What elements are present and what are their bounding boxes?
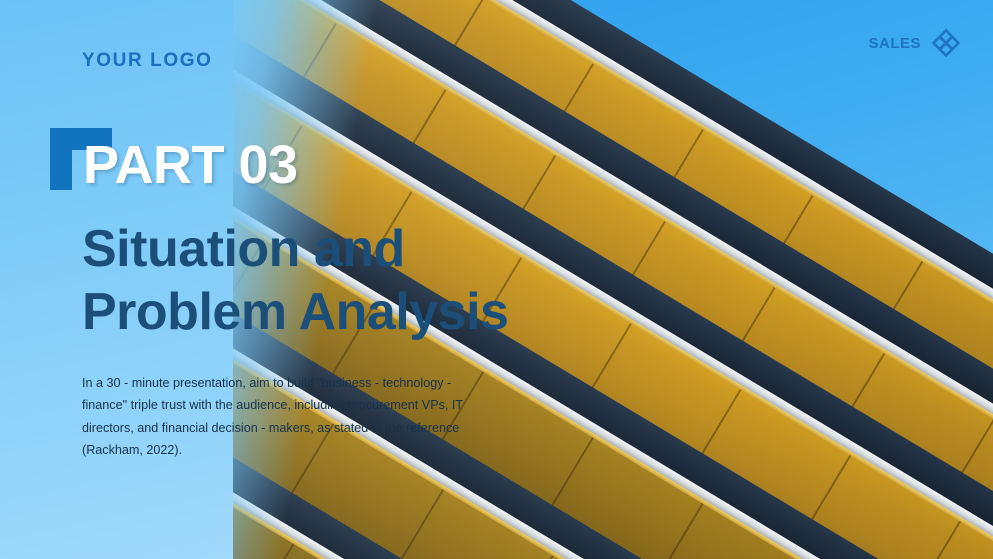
part-number-block: PART 03 bbox=[50, 128, 298, 192]
presentation-slide: YOUR LOGO SALES PART 03 Situation and Pr… bbox=[0, 0, 993, 559]
part-label: PART 03 bbox=[50, 128, 298, 192]
body-paragraph: In a 30 - minute presentation, aim to bu… bbox=[82, 372, 472, 462]
brand-lockup: SALES bbox=[868, 28, 961, 58]
your-logo-placeholder: YOUR LOGO bbox=[82, 50, 213, 72]
four-diamonds-icon bbox=[931, 28, 961, 58]
brand-name: SALES bbox=[868, 35, 921, 52]
page-title: Situation and Problem Analysis bbox=[82, 218, 602, 345]
